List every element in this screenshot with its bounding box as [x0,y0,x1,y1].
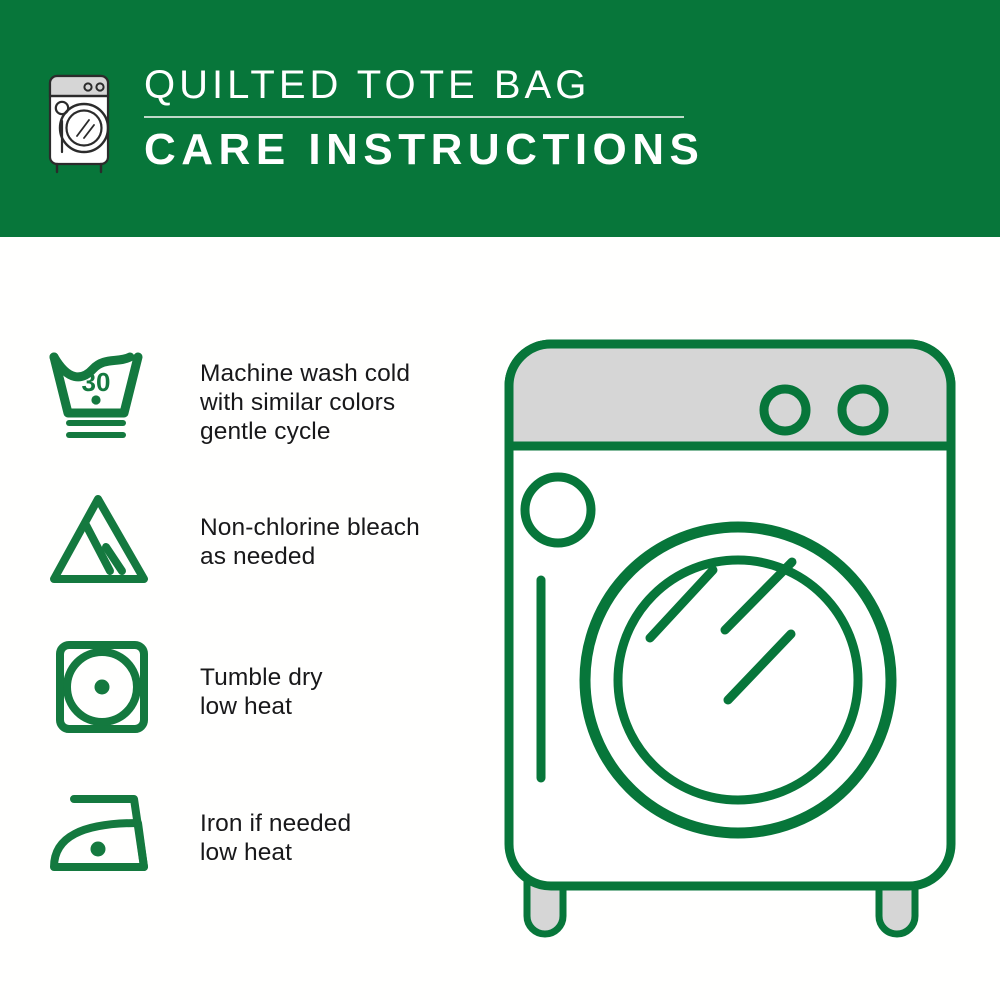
care-row-iron: Iron if needed low heat [48,789,351,881]
care-instruction-list: 30 Machine wash cold with similar colors… [0,237,470,1000]
low-heat-dot [91,842,106,857]
care-text-iron: Iron if needed low heat [200,789,351,867]
header-band: QUILTED TOTE BAG CARE INSTRUCTIONS [0,0,1000,237]
care-row-wash: 30 Machine wash cold with similar colors… [48,347,410,446]
control-panel [509,344,951,446]
care-row-bleach: Non-chlorine bleach as needed [48,489,420,589]
care-text-tumble-dry: Tumble dry low heat [200,637,323,721]
care-icon-cell: 30 [48,347,200,445]
tumble-dry-low-heat-icon [48,637,154,737]
wash-temperature-label: 30 [82,367,111,397]
page-title-primary: QUILTED TOTE BAG [144,62,704,114]
non-chlorine-bleach-triangle-icon [48,489,154,589]
gentle-bar-2 [66,432,126,438]
gentle-cycle-dot [91,395,100,404]
care-text-bleach: Non-chlorine bleach as needed [200,489,420,571]
wash-tub-30-icon: 30 [48,347,154,445]
gentle-bar-1 [66,420,126,426]
care-text-wash: Machine wash cold with similar colors ge… [200,347,410,446]
washing-machine-illustration [485,330,975,940]
washing-machine-icon [44,68,122,180]
title-divider [144,116,684,118]
iron-low-heat-icon [48,789,158,881]
care-instructions-infographic: QUILTED TOTE BAG CARE INSTRUCTIONS 30 [0,0,1000,1000]
low-heat-dot [95,680,110,695]
care-icon-cell [48,489,200,589]
care-icon-cell [48,789,200,881]
header-content: QUILTED TOTE BAG CARE INSTRUCTIONS [44,62,704,180]
care-row-tumble-dry: Tumble dry low heat [48,637,323,737]
page-title-secondary: CARE INSTRUCTIONS [144,124,704,176]
header-title-block: QUILTED TOTE BAG CARE INSTRUCTIONS [144,62,704,176]
care-icon-cell [48,637,200,737]
